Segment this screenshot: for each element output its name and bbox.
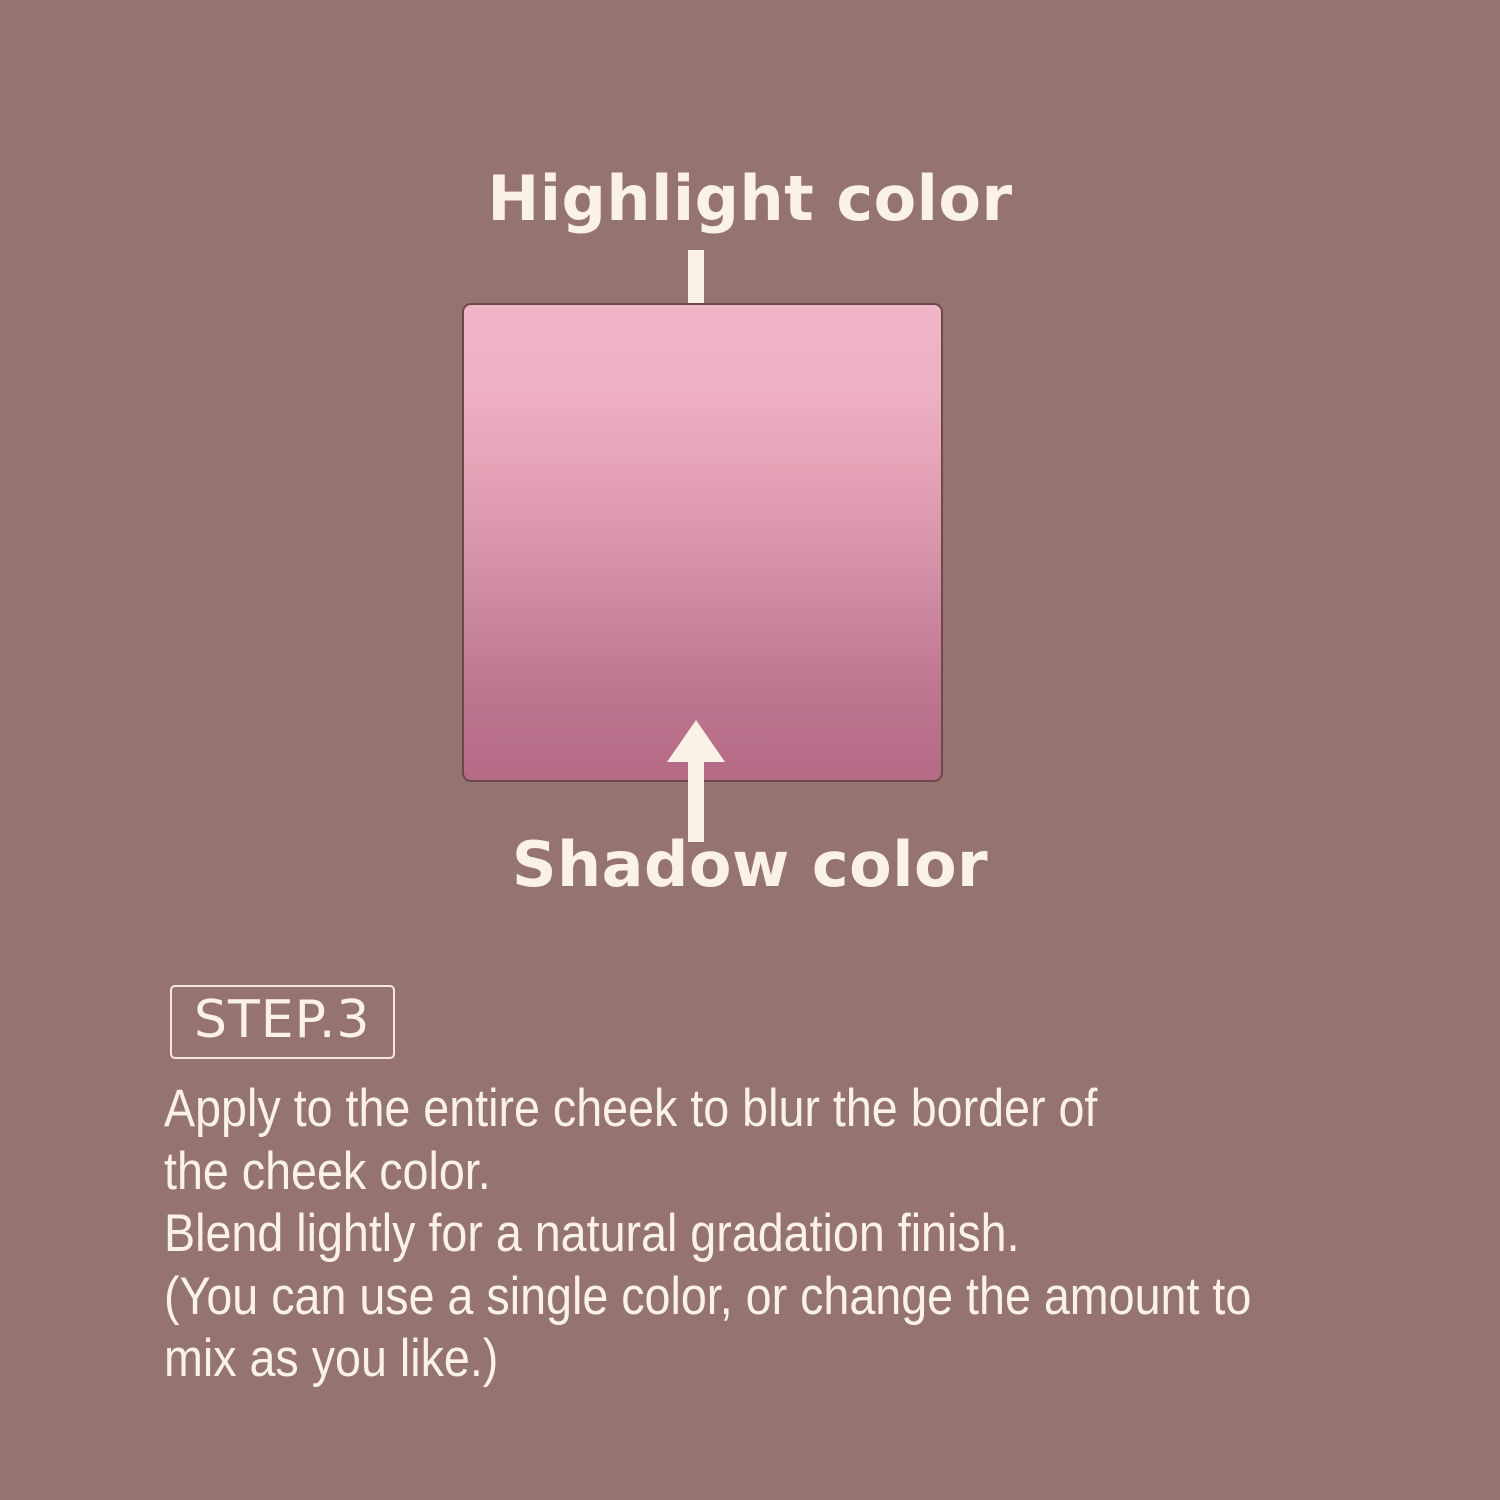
description-line: mix as you like.) [164,1328,1273,1391]
step-badge: STEP.3 [170,985,395,1059]
description-line: Blend lightly for a natural gradation fi… [164,1203,1273,1266]
infographic-page: Highlight color Shadow color STEP.3 Appl… [0,0,1500,1500]
color-gradient-diagram: Highlight color Shadow color [0,0,1500,930]
description-line: the cheek color. [164,1141,1273,1204]
step-description: Apply to the entire cheek to blur the bo… [164,1078,1424,1391]
shadow-color-label: Shadow color [0,828,1500,901]
highlight-color-label: Highlight color [0,162,1500,235]
description-line: (You can use a single color, or change t… [164,1266,1273,1329]
arrow-up-icon [663,718,729,844]
gradient-color-swatch [462,303,943,782]
description-line: Apply to the entire cheek to blur the bo… [164,1078,1273,1141]
